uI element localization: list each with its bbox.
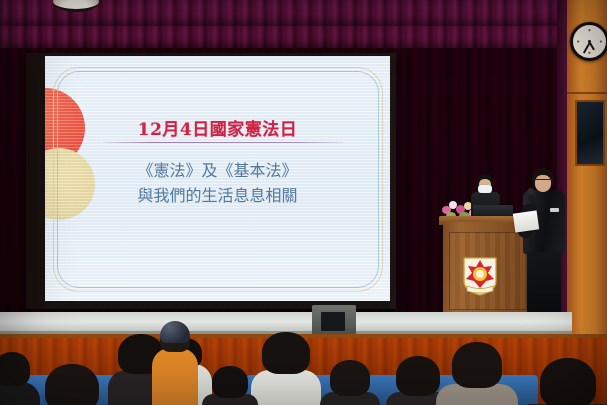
audience-member-shoulders [152,348,198,405]
screen-right-border [390,53,396,309]
patterned-cap [160,321,190,343]
slide-text-block: 12月4日國家憲法日 《憲法》及《基本法》 與我們的生活息息相關 [45,56,390,301]
audience-member-head [452,342,502,388]
slide-title-divider [103,142,343,143]
audience-member-head [540,358,596,405]
slide-title: 12月4日國家憲法日 [45,115,390,140]
speaker-at-microphone [520,168,568,314]
school-crest-icon [461,255,499,297]
name-badge [550,208,559,212]
speaker-legs [527,252,561,314]
audience-member-head [0,352,30,386]
audience-member-head [330,360,370,396]
audience-member-head [45,364,99,405]
slide-subtitle-line-2: 與我們的生活息息相關 [45,184,390,209]
face-mask-icon [478,185,492,193]
auditorium-photo: 12月4日國家憲法日 《憲法》及《基本法》 與我們的生活息息相關 [0,0,607,405]
curtain-valance-lower [0,26,607,48]
wall-seam [567,92,607,94]
glasses-icon [534,179,552,184]
audience-member-shoulders [251,370,321,405]
slide-subtitle: 《憲法》及《基本法》 與我們的生活息息相關 [45,159,390,209]
slide-subtitle-line-1: 《憲法》及《基本法》 [45,159,390,184]
audience-row [0,330,607,405]
audience-member-head [212,366,248,398]
script-paper [513,210,539,232]
presentation-slide: 12月4日國家憲法日 《憲法》及《基本法》 與我們的生活息息相關 [45,56,390,301]
audience-member-head [396,356,440,396]
screen-left-border [26,53,45,309]
wall-window [575,100,605,166]
wall-clock-icon [570,22,607,61]
microphone-head-icon [527,188,534,195]
audience-member-head [262,332,310,374]
clock-center-pin [588,40,591,43]
projection-screen: 12月4日國家憲法日 《憲法》及《基本法》 與我們的生活息息相關 [26,53,396,309]
